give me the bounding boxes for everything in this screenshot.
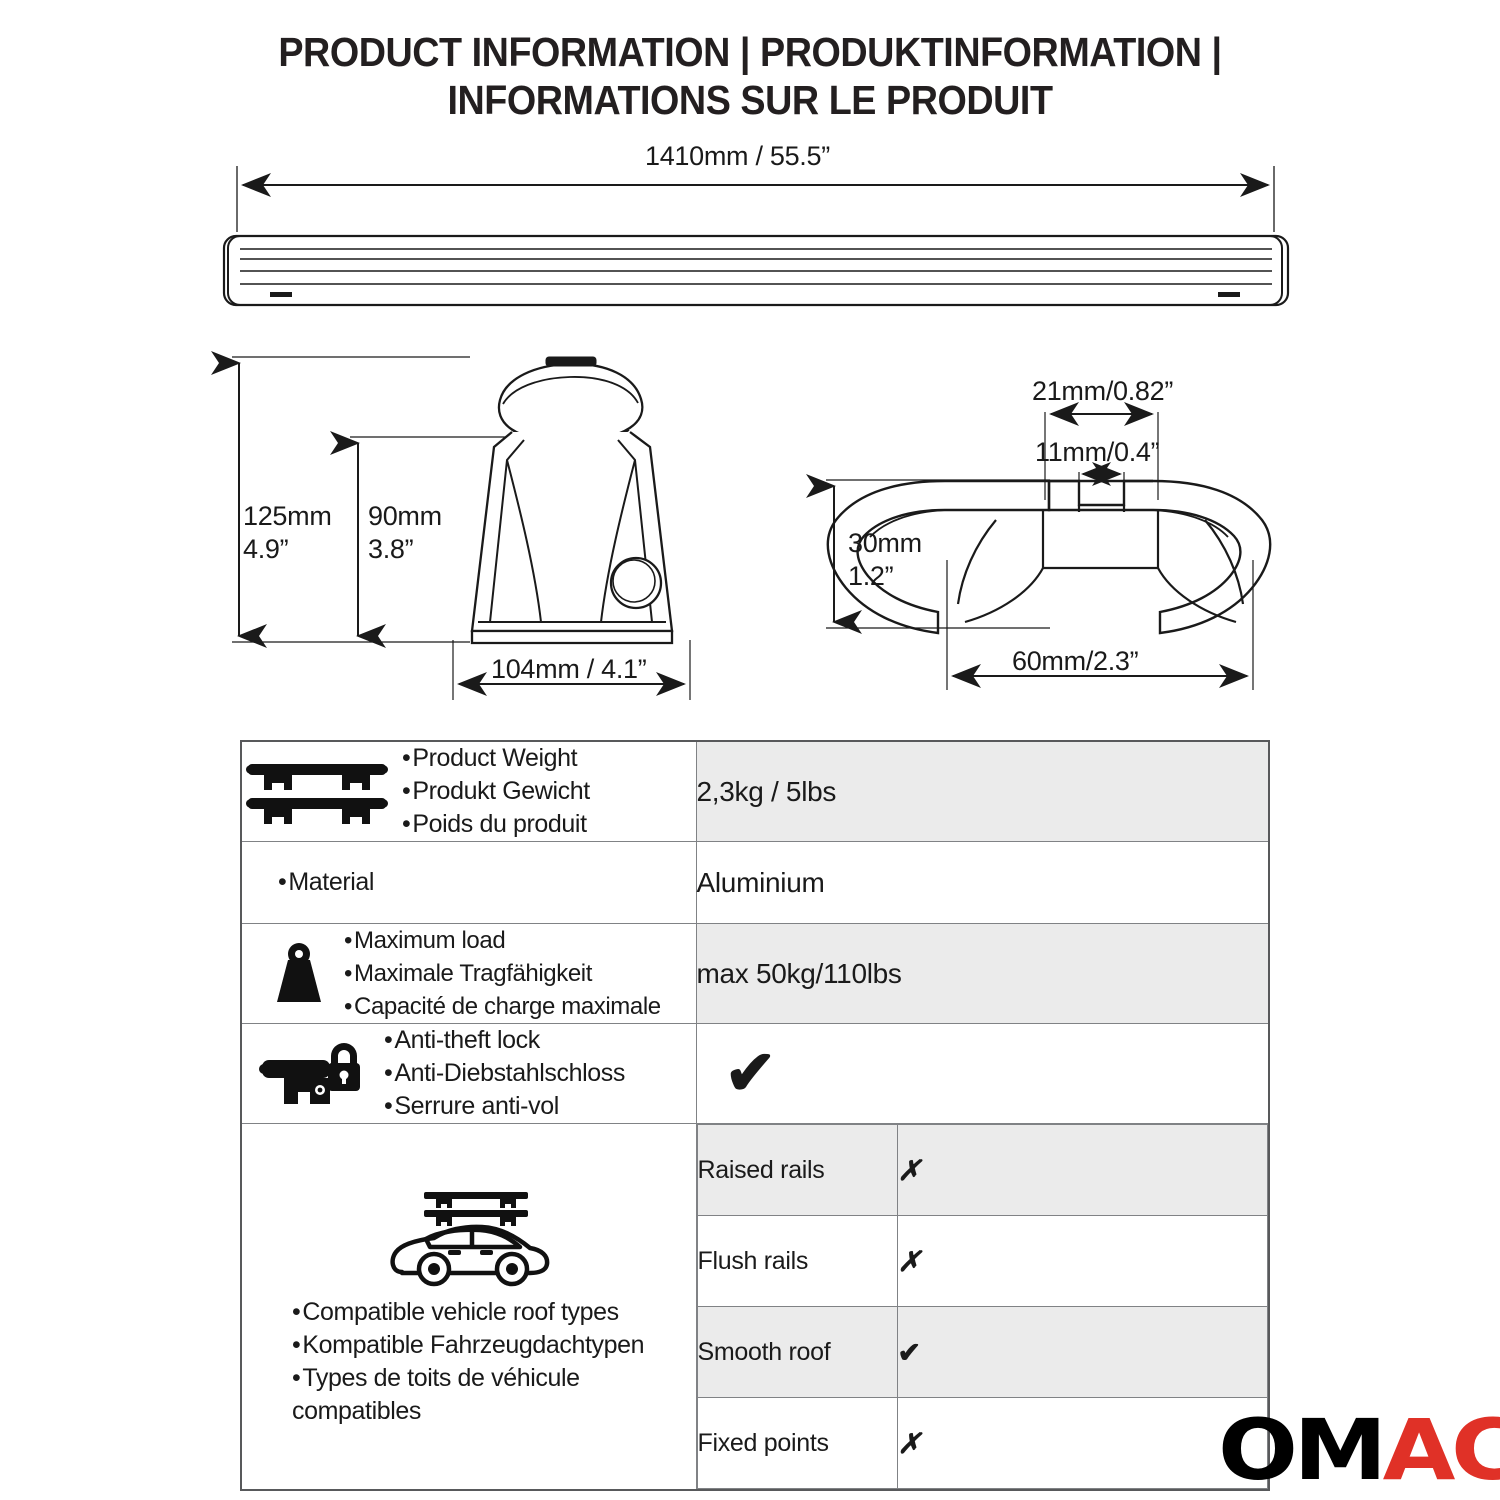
foot-side-view-drawing (472, 357, 672, 643)
label-de: Maximale Tragfähigkeit (344, 957, 661, 990)
title-line-1: PRODUCT INFORMATION | PRODUKTINFORMATION… (60, 28, 1440, 76)
row-labels: Product Weight Produkt Gewicht Poids du … (402, 742, 590, 841)
label-en: Compatible vehicle roof types (292, 1296, 644, 1329)
slot-inner-label: 11mm/0.4” (1035, 436, 1159, 469)
roof-type-name: Raised rails (697, 1125, 897, 1216)
roof-types-subtable-cell: Raised rails ✗ Flush rails ✗ Smooth roof… (696, 1124, 1269, 1491)
row-labels: Maximum load Maximale Tragfähigkeit Capa… (344, 924, 661, 1023)
lock-icon (258, 1038, 366, 1110)
section-width-label: 60mm/2.3” (1012, 645, 1138, 678)
row-label-cell: Product Weight Produkt Gewicht Poids du … (241, 741, 696, 842)
row-label-cell: Anti-theft lock Anti-Diebstahlschloss Se… (241, 1024, 696, 1124)
label-fr: Capacité de charge maximale (344, 990, 661, 1023)
roof-type-row-fixed-points: Fixed points ✗ (697, 1398, 1268, 1489)
row-labels: Compatible vehicle roof types Kompatible… (242, 1296, 644, 1428)
row-label-cell: Compatible vehicle roof types Kompatible… (241, 1124, 696, 1491)
crossbars-icon (242, 758, 392, 826)
cross-icon: ✗ (897, 1398, 1268, 1489)
label-de: Kompatible Fahrzeugdachtypen (292, 1329, 644, 1362)
row-label-cell: Material (241, 842, 696, 924)
product-spec-table: Product Weight Produkt Gewicht Poids du … (240, 740, 1270, 1491)
row-value-product-weight: 2,3kg / 5lbs (696, 741, 1269, 842)
row-value-maximum-load: max 50kg/110lbs (696, 924, 1269, 1024)
rail-length-label: 1410mm / 55.5” (645, 140, 830, 173)
label-fr: Serrure anti-vol (384, 1090, 625, 1123)
table-row-anti-theft-lock: Anti-theft lock Anti-Diebstahlschloss Se… (241, 1024, 1269, 1124)
roof-type-name: Flush rails (697, 1216, 897, 1307)
side-height-total-label: 125mm4.9” (243, 500, 332, 566)
table-row-product-weight: Product Weight Produkt Gewicht Poids du … (241, 741, 1269, 842)
roof-type-row-raised-rails: Raised rails ✗ (697, 1125, 1268, 1216)
logo-dark-text: OM (1218, 1401, 1383, 1499)
cross-icon: ✗ (897, 1125, 1268, 1216)
side-height-inner-label: 90mm3.8” (368, 500, 442, 566)
label-de: Produkt Gewicht (402, 775, 590, 808)
row-value-anti-theft-lock: ✔ (696, 1024, 1269, 1124)
roof-rail-top-view (224, 236, 1288, 305)
roof-types-subtable: Raised rails ✗ Flush rails ✗ Smooth roof… (697, 1124, 1269, 1489)
cross-icon: ✗ (897, 1216, 1268, 1307)
logo-red-text: AC (1383, 1401, 1500, 1499)
row-value-material: Aluminium (696, 842, 1269, 924)
label-en: Material (278, 866, 374, 899)
row-labels: Anti-theft lock Anti-Diebstahlschloss Se… (384, 1024, 625, 1123)
label-fr: Poids du produit (402, 808, 590, 841)
label-en: Anti-theft lock (384, 1024, 625, 1057)
rail-length-dimension (237, 166, 1274, 232)
omac-logo: OMAC (1218, 1408, 1500, 1492)
label-fr: Types de toits de véhicule (292, 1362, 644, 1395)
car-with-rack-icon (384, 1186, 554, 1290)
table-row-maximum-load: Maximum load Maximale Tragfähigkeit Capa… (241, 924, 1269, 1024)
weight-icon (268, 942, 330, 1006)
roof-type-name: Smooth roof (697, 1307, 897, 1398)
label-fr-continuation: compatibles (292, 1395, 644, 1428)
roof-type-name: Fixed points (697, 1398, 897, 1489)
title-line-2: INFORMATIONS SUR LE PRODUIT (60, 76, 1440, 124)
checkmark-icon: ✔ (697, 1039, 777, 1108)
section-height-label: 30mm1.2” (848, 527, 922, 593)
slot-outer-label: 21mm/0.82” (1032, 375, 1173, 408)
row-label-cell: Maximum load Maximale Tragfähigkeit Capa… (241, 924, 696, 1024)
row-labels: Material (278, 866, 374, 899)
checkmark-icon: ✔ (897, 1307, 1268, 1398)
side-width-label: 104mm / 4.1” (491, 653, 646, 686)
roof-type-row-smooth-roof: Smooth roof ✔ (697, 1307, 1268, 1398)
page-title: PRODUCT INFORMATION | PRODUKTINFORMATION… (0, 28, 1500, 124)
roof-type-row-flush-rails: Flush rails ✗ (697, 1216, 1268, 1307)
label-en: Product Weight (402, 742, 590, 775)
table-row-material: Material Aluminium (241, 842, 1269, 924)
label-de: Anti-Diebstahlschloss (384, 1057, 625, 1090)
table-row-roof-types: Compatible vehicle roof types Kompatible… (241, 1124, 1269, 1491)
label-en: Maximum load (344, 924, 661, 957)
